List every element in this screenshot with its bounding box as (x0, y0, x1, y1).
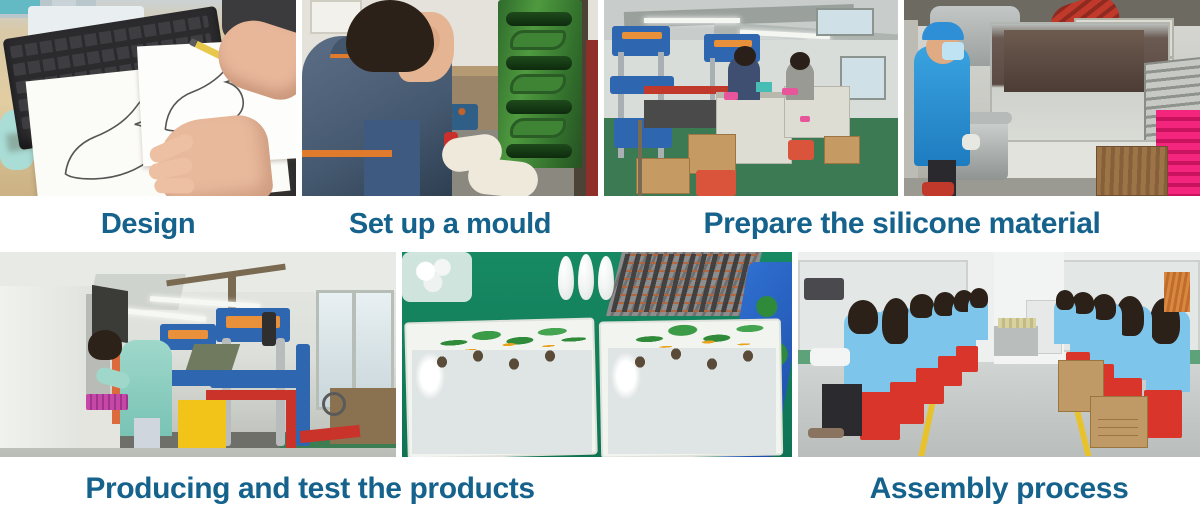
cart-wheel (322, 392, 346, 416)
pink-material-1 (724, 92, 738, 100)
carton-3 (824, 136, 860, 164)
pink-material-3 (800, 116, 810, 122)
side-table (994, 326, 1038, 356)
equipment-box (804, 278, 844, 300)
worker-left-6-hair (970, 288, 988, 308)
red-stool-2 (788, 140, 814, 160)
caption-row-2: Producing and test the products Assembly… (0, 457, 1200, 524)
operator-cap (922, 22, 964, 40)
face-mask (942, 42, 964, 60)
hydraulic-cap (262, 312, 276, 346)
photo-silicone-workshop[interactable] (604, 0, 898, 196)
light-tube-1 (644, 18, 740, 23)
press-platen (210, 370, 300, 388)
material-chute (186, 344, 240, 370)
red-leg-b (286, 398, 296, 448)
operator-shoe (922, 182, 954, 196)
photo-finished-products[interactable] (402, 252, 792, 457)
hanging-items (1164, 272, 1190, 312)
stacked-cardboard (1096, 146, 1168, 196)
carton-print (1098, 412, 1138, 440)
coil-wires (611, 254, 757, 312)
green-mould (498, 0, 582, 168)
press-brand-label-1 (622, 32, 662, 39)
magnet-blocks-right (608, 346, 776, 406)
sample-shell-2 (578, 254, 594, 300)
magnet-blocks-left (412, 348, 592, 408)
sandal (808, 428, 844, 438)
caption-set-up-a-mould: Set up a mould (302, 210, 598, 239)
red-wall-strip (586, 40, 598, 196)
pink-product-tray (86, 394, 128, 410)
stool-left-5 (956, 346, 978, 372)
high-window (816, 8, 874, 36)
caption-assembly-process: Assembly process (798, 474, 1200, 504)
yellow-machine-panel (178, 400, 226, 448)
teal-container (756, 82, 772, 92)
worker-head (88, 330, 122, 360)
press-brand-label-2 (168, 330, 208, 339)
red-stool-1 (696, 170, 736, 196)
worker-left-1-hair (848, 300, 878, 334)
photo-assembly-line[interactable] (798, 252, 1200, 457)
photo-silicone-machine[interactable] (904, 0, 1200, 196)
process-gallery: Design Set up a mould Prepare the silico… (0, 0, 1200, 524)
carton-2 (636, 158, 690, 194)
white-product-in-hand (810, 348, 850, 366)
machine-dark-panel (1004, 30, 1144, 92)
carton-1 (688, 134, 736, 174)
caption-row-1: Design Set up a mould Prepare the silico… (0, 196, 1200, 252)
photo-design[interactable] (0, 0, 296, 196)
worker-leg (134, 418, 160, 448)
worker-right-5-hair (1056, 290, 1074, 310)
sample-shell-1 (558, 256, 574, 300)
sample-shell-3 (598, 256, 614, 300)
caption-producing-and-test-the-products: Producing and test the products (0, 474, 620, 504)
shirt-stripe (302, 150, 392, 157)
worker-left-3-hair (910, 294, 934, 318)
caption-prepare-the-silicone-material: Prepare the silicone material (604, 209, 1200, 239)
worker-jeans (364, 120, 420, 196)
bottles-on-table (998, 318, 1036, 328)
operator-body (914, 46, 970, 166)
photo-mould-setup[interactable] (302, 0, 598, 196)
worker-left-2-hair (882, 298, 910, 344)
bagged-shells (410, 256, 462, 294)
worker-1-head (734, 46, 756, 66)
trolley-post (638, 120, 642, 196)
operator-glove (962, 134, 980, 150)
worker-2-head (790, 52, 810, 70)
photo-production-line[interactable] (0, 252, 396, 457)
caption-design: Design (0, 210, 296, 239)
stool-right-1 (1144, 390, 1182, 438)
pink-material-2 (782, 88, 798, 95)
